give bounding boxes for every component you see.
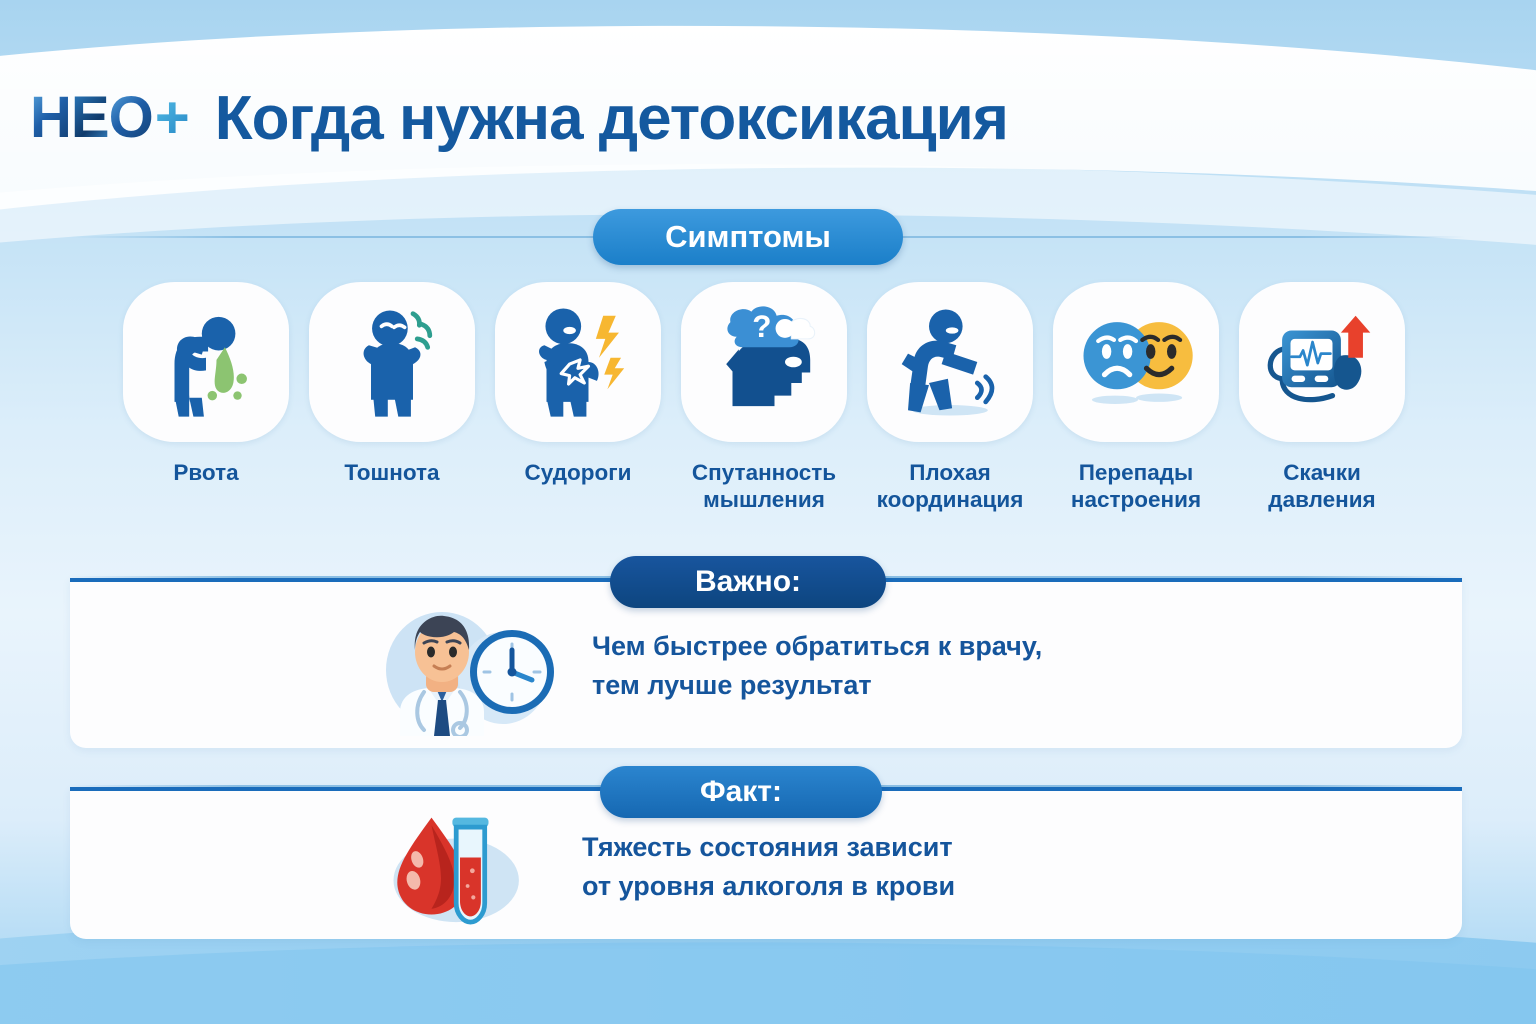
symptom-item-cramps[interactable]: Судороги (492, 282, 664, 514)
symptom-label-line2: давления (1268, 487, 1375, 512)
symptom-label-line1: Спутанность (692, 460, 836, 485)
page-title: Когда нужна детоксикация (215, 83, 1008, 154)
symptom-label: Судороги (525, 459, 632, 486)
important-text-line2: тем лучше результат (592, 666, 1042, 705)
section-badge-symptoms: Симптомы (593, 209, 903, 265)
symptom-label: Скачки давления (1268, 459, 1375, 514)
logo-letter-o: О (109, 89, 153, 147)
symptom-label-line1: Перепады (1079, 460, 1194, 485)
header: Н Е О + Когда нужна детоксикация (0, 58, 1536, 178)
fact-text-line1: Тяжесть состояния зависит (582, 832, 953, 862)
mood-swings-faces-icon (1073, 299, 1199, 425)
fact-text: Тяжесть состояния зависит от уровня алко… (582, 828, 955, 906)
symptom-card (309, 282, 475, 442)
blood-drop-and-test-tube-illustration (360, 797, 560, 937)
poor-coordination-icon (887, 299, 1013, 425)
symptoms-grid: Рвота Тошнота (120, 282, 1420, 514)
symptom-label: Перепады настроения (1071, 459, 1201, 514)
symptom-card: ? (681, 282, 847, 442)
symptom-card (1239, 282, 1405, 442)
symptom-label-line2: мышления (703, 487, 825, 512)
fact-content: Тяжесть состояния зависит от уровня алко… (360, 797, 955, 937)
svg-text:?: ? (752, 308, 771, 344)
symptom-item-coordination[interactable]: Плохая координация (864, 282, 1036, 514)
symptom-label-line2: координация (877, 487, 1024, 512)
symptom-item-nausea[interactable]: Тошнота (306, 282, 478, 514)
symptom-item-confusion[interactable]: ? Спутанность мышления (678, 282, 850, 514)
logo-letter-n: Н (30, 89, 71, 147)
symptom-item-blood-pressure[interactable]: Скачки давления (1236, 282, 1408, 514)
symptom-label-line2: настроения (1071, 487, 1201, 512)
infographic-root: Н Е О + Когда нужна детоксикация Симптом… (0, 0, 1536, 1024)
vomiting-icon (143, 299, 269, 425)
symptom-label-line1: Скачки (1283, 460, 1361, 485)
symptom-label: Тошнота (344, 459, 439, 486)
nausea-icon (329, 299, 455, 425)
symptom-label: Спутанность мышления (692, 459, 836, 514)
fact-text-line2: от уровня алкоголя в крови (582, 867, 955, 906)
symptom-item-mood-swings[interactable]: Перепады настроения (1050, 282, 1222, 514)
brand-logo: Н Е О + (30, 88, 189, 148)
cramps-lightning-icon (515, 299, 641, 425)
section-badge-important: Важно: (610, 556, 886, 608)
symptom-item-vomiting[interactable]: Рвота (120, 282, 292, 514)
symptom-card (867, 282, 1033, 442)
logo-plus-icon: + (155, 88, 189, 148)
important-text: Чем быстрее обратиться к врачу, тем лучш… (592, 627, 1042, 705)
symptom-label: Плохая координация (877, 459, 1024, 514)
symptom-label: Рвота (173, 459, 238, 486)
symptom-card (1053, 282, 1219, 442)
logo-letter-e: Е (71, 89, 109, 147)
important-content: Чем быстрее обратиться к врачу, тем лучш… (370, 596, 1042, 736)
section-badge-fact: Факт: (600, 766, 882, 818)
symptom-label-line1: Плохая (909, 460, 991, 485)
doctor-with-clock-illustration (370, 596, 570, 736)
confused-head-icon: ? (701, 299, 827, 425)
blood-pressure-monitor-icon (1259, 299, 1385, 425)
important-text-line1: Чем быстрее обратиться к врачу, (592, 631, 1042, 661)
symptom-card (495, 282, 661, 442)
symptom-card (123, 282, 289, 442)
